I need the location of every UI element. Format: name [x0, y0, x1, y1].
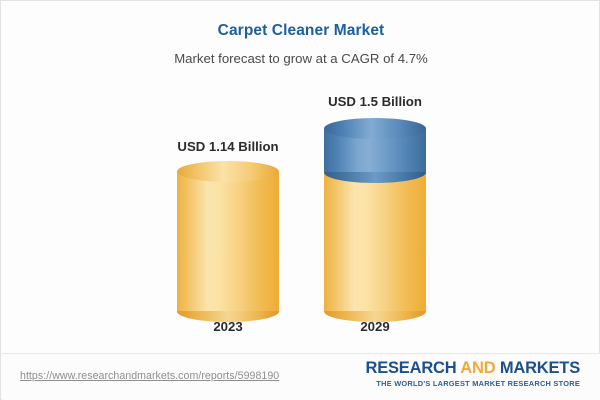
- cylinder-2029-base: [324, 161, 426, 311]
- brand-word-and: AND: [460, 359, 495, 377]
- source-url-link[interactable]: https://www.researchandmarkets.com/repor…: [20, 370, 279, 382]
- cylinder-top-face: [324, 118, 426, 139]
- footer-bar: https://www.researchandmarkets.com/repor…: [2, 353, 600, 400]
- brand-tagline: THE WORLD'S LARGEST MARKET RESEARCH STOR…: [365, 379, 580, 388]
- brand-word-research: RESEARCH: [365, 359, 456, 377]
- cylinder-side-face: [324, 172, 426, 312]
- category-label-2029: 2029: [265, 319, 485, 334]
- brand-word-markets: MARKETS: [500, 359, 580, 377]
- bar-group-2023: USD 1.14 Billion 2023: [177, 1, 279, 353]
- brand-logo[interactable]: RESEARCH AND MARKETS THE WORLD'S LARGEST…: [365, 359, 580, 388]
- bar-group-2029: USD 1.5 Billion 2029: [324, 1, 426, 353]
- cylinder-side-face: [177, 172, 279, 312]
- chart-figure: Carpet Cleaner Market Market forecast to…: [0, 0, 600, 400]
- cylinder-2029-growth: [324, 118, 426, 172]
- bar-value-label-2023: USD 1.14 Billion: [118, 139, 338, 154]
- bar-value-label-2029: USD 1.5 Billion: [265, 94, 485, 109]
- brand-name: RESEARCH AND MARKETS: [365, 359, 580, 378]
- cylinder-top-face: [177, 161, 279, 182]
- cylinder-2023-base: [177, 161, 279, 311]
- plot-area: USD 1.14 Billion 2023 USD 1.5 Billion: [1, 1, 600, 353]
